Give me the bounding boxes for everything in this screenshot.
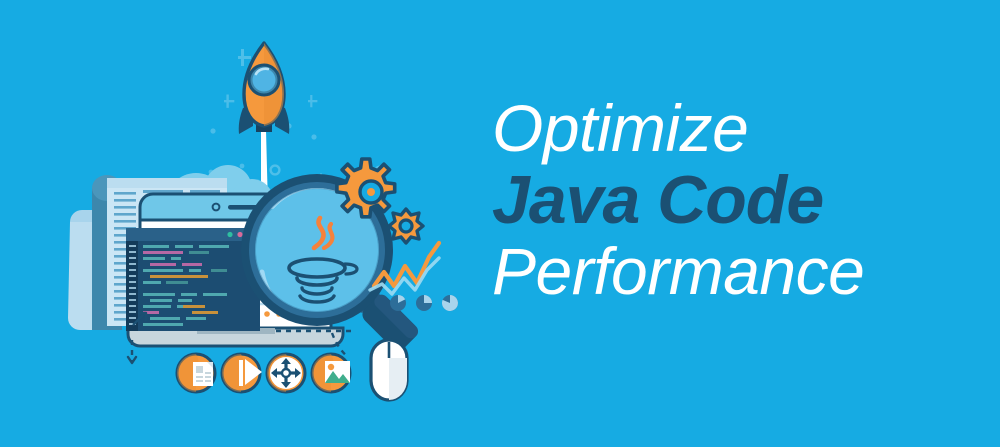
gear-large (337, 159, 395, 217)
mouse (371, 340, 407, 400)
gear-small (389, 209, 423, 243)
headline: Optimize Java Code Performance (492, 96, 992, 304)
headline-line-3: Performance (492, 239, 992, 304)
document-icon[interactable] (177, 354, 215, 392)
pie-chart-3 (442, 295, 458, 311)
headline-line-1: Optimize (492, 96, 992, 161)
image-icon[interactable] (312, 354, 350, 392)
pie-chart-1 (390, 295, 406, 311)
toolbar-icons (177, 354, 350, 392)
dot-pink (237, 232, 242, 237)
dot-green (227, 232, 232, 237)
play-icon[interactable] (222, 354, 262, 392)
pie-chart-2 (416, 295, 432, 311)
banner: Optimize Java Code Performance (0, 0, 1000, 447)
java-performance-illustration (0, 0, 470, 447)
move-icon[interactable] (267, 354, 305, 392)
headline-line-2: Java Code (492, 167, 992, 234)
pie-charts (390, 295, 458, 311)
